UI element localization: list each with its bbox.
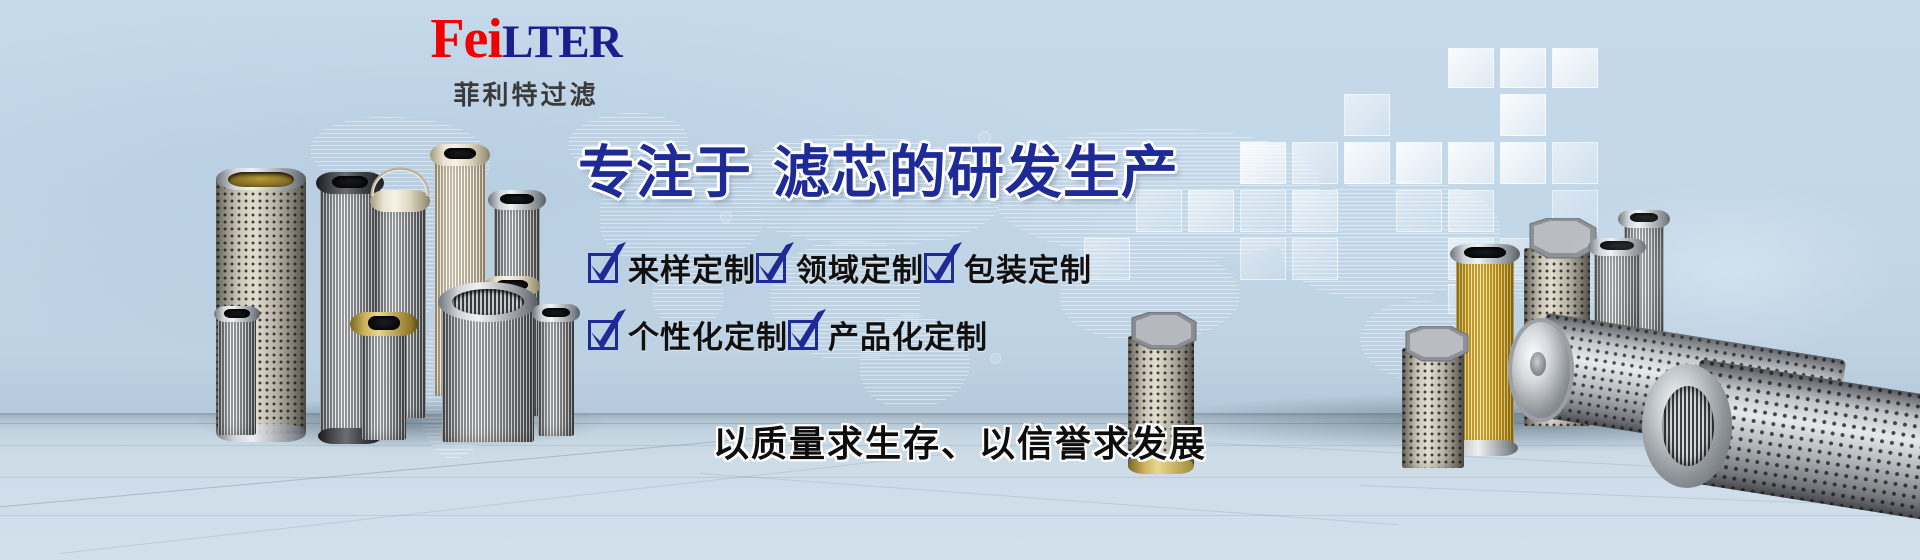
checkbox-checked-icon	[588, 253, 618, 283]
feature-label: 包装定制	[964, 245, 1092, 290]
tagline: 以质量求生存、以信誉求发展	[0, 415, 1920, 467]
feature-list: 来样定制 领域定制 包装定制	[588, 245, 1092, 357]
logo-wordmark: FeiLTER	[386, 8, 666, 73]
promo-banner: FeiLTER 菲利特过滤 专注于 滤芯的研发生产 来样定制	[0, 0, 1920, 560]
brand-logo[interactable]: FeiLTER 菲利特过滤	[386, 8, 666, 112]
checkbox-checked-icon	[924, 253, 954, 283]
headline: 专注于 滤芯的研发生产	[578, 140, 1179, 206]
feature-row: 来样定制 领域定制 包装定制	[588, 245, 1092, 290]
feature-label: 产品化定制	[828, 312, 988, 357]
logo-fei-text: Fei	[430, 8, 502, 70]
feature-label: 领域定制	[796, 245, 924, 290]
feature-item[interactable]: 产品化定制	[788, 312, 988, 357]
hex-nut-icon	[1120, 312, 1204, 350]
logo-lter-text: LTER	[502, 16, 622, 68]
feature-label: 来样定制	[628, 245, 756, 290]
logo-chinese-name: 菲利特过滤	[386, 75, 666, 112]
hex-nut-icon	[1394, 326, 1474, 362]
feature-item[interactable]: 包装定制	[924, 245, 1092, 290]
feature-item[interactable]: 领域定制	[756, 245, 924, 290]
feature-label: 个性化定制	[628, 312, 788, 357]
feature-row: 个性化定制 产品化定制	[588, 312, 1092, 357]
feature-item[interactable]: 个性化定制	[588, 312, 788, 357]
feature-item[interactable]: 来样定制	[588, 245, 756, 290]
checkbox-checked-icon	[756, 253, 786, 283]
checkbox-checked-icon	[588, 320, 618, 350]
checkbox-checked-icon	[788, 320, 818, 350]
